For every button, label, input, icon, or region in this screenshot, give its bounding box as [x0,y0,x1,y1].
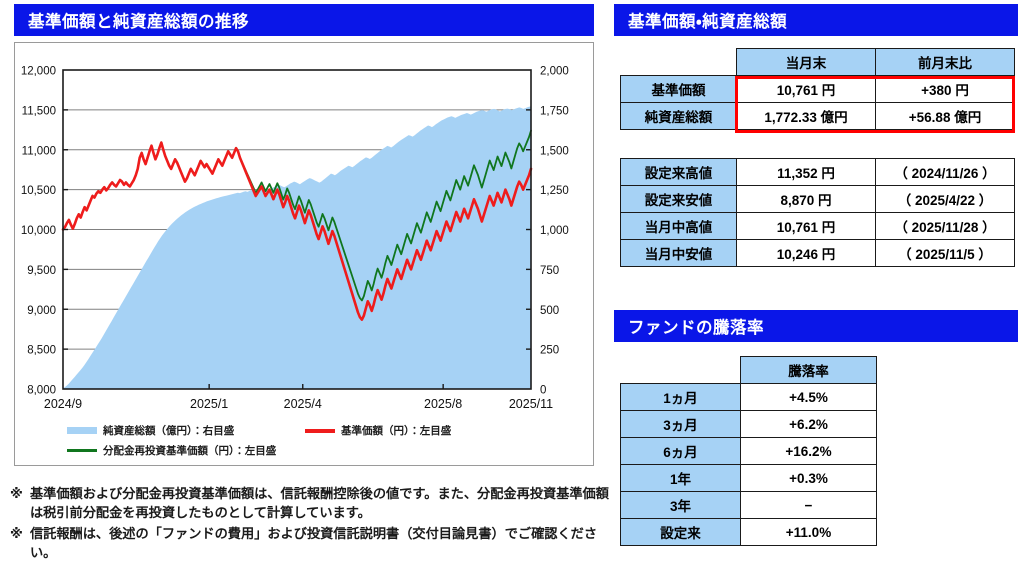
svg-text:12,000: 12,000 [21,66,56,78]
summary-col-change: 前月末比 [876,49,1015,76]
table-row: 当月中安値 10,246 円 （ 2025/11/5 ） [621,240,1015,267]
performance-col-rate: 騰落率 [741,357,877,384]
table-row: 3ヵ月 +6.2% [621,411,877,438]
table-row: 基準価額 10,761 円 +380 円 [621,76,1015,103]
svg-text:8,000: 8,000 [27,385,56,397]
legend-label-net-assets: 純資産総額（億円）：右目盛 [103,423,234,438]
nav-chart-panel: 8,0008,5009,0009,50010,00010,50011,00011… [14,42,594,466]
svg-text:10,500: 10,500 [21,185,56,197]
table-row: 当月中高値 10,761 円 （ 2025/11/28 ） [621,213,1015,240]
footnote-item: ※ 基準価額および分配金再投資基準価額は、信託報酬控除後の値です。また、分配金再… [10,484,610,523]
hilo-date-since-inception-low: （ 2025/4/22 ） [876,186,1015,213]
legend-item-nav: 基準価額（円）：左目盛 [305,423,451,438]
performance-section-title: ファンドの騰落率 [628,314,764,338]
footnote-mark: ※ [10,524,30,563]
legend-label-reinvested-nav: 分配金再投資基準価額（円）：左目盛 [103,443,276,458]
performance-value-1y: +0.3% [741,465,877,492]
chart-section-title: 基準価額と純資産総額の推移 [28,8,249,32]
hilo-value-month-low: 10,246 円 [737,240,876,267]
table-row: 1ヵ月 +4.5% [621,384,877,411]
table-row-header: 当月末 前月末比 [621,49,1015,76]
footnote-mark: ※ [10,484,30,523]
legend-item-reinvested-nav: 分配金再投資基準価額（円）：左目盛 [67,443,276,458]
summary-section-header: 基準価額・純資産総額 [614,4,1018,36]
performance-period-6m: 6ヵ月 [621,438,741,465]
legend-item-net-assets: 純資産総額（億円）：右目盛 [67,423,234,438]
hilo-date-since-inception-high: （ 2024/11/26 ） [876,159,1015,186]
svg-text:750: 750 [540,265,559,277]
table-row: 設定来安値 8,870 円 （ 2025/4/22 ） [621,186,1015,213]
summary-corner-cell [621,49,737,76]
svg-text:2025/8: 2025/8 [424,397,462,411]
hilo-table: 設定来高値 11,352 円 （ 2024/11/26 ） 設定来安値 8,87… [620,158,1015,267]
hilo-label-month-low: 当月中安値 [621,240,737,267]
table-row: 純資産総額 1,772.33 億円 +56.88 億円 [621,103,1015,130]
table-row: 1年 +0.3% [621,465,877,492]
performance-period-1m: 1ヵ月 [621,384,741,411]
summary-table: 当月末 前月末比 基準価額 10,761 円 +380 円 純資産総額 1,77… [620,48,1015,130]
hilo-value-month-high: 10,761 円 [737,213,876,240]
footnote-text: 信託報酬は、後述の「ファンドの費用」および投資信託説明書（交付目論見書）でご確認… [30,524,610,563]
performance-value-6m: +16.2% [741,438,877,465]
svg-text:1,250: 1,250 [540,185,569,197]
hilo-label-month-high: 当月中高値 [621,213,737,240]
svg-text:11,000: 11,000 [22,145,56,157]
table-row: 設定来高値 11,352 円 （ 2024/11/26 ） [621,159,1015,186]
hilo-date-month-high: （ 2025/11/28 ） [876,213,1015,240]
footnote-text: 基準価額および分配金再投資基準価額は、信託報酬控除後の値です。また、分配金再投資… [30,484,610,523]
svg-text:9,500: 9,500 [27,265,56,277]
footnote-item: ※ 信託報酬は、後述の「ファンドの費用」および投資信託説明書（交付目論見書）でご… [10,524,610,563]
hilo-label-since-inception-high: 設定来高値 [621,159,737,186]
hilo-value-since-inception-high: 11,352 円 [737,159,876,186]
legend-swatch-nav-icon [305,429,335,433]
performance-period-since-inception: 設定来 [621,519,741,546]
performance-section-header: ファンドの騰落率 [614,310,1018,342]
performance-value-3m: +6.2% [741,411,877,438]
summary-section-title: 基準価額・純資産総額 [628,8,787,32]
legend-swatch-reinvested-icon [67,449,97,452]
svg-text:250: 250 [540,345,559,357]
table-row: 3年 − [621,492,877,519]
svg-text:1,000: 1,000 [540,225,569,237]
svg-text:1,750: 1,750 [540,105,569,117]
svg-text:500: 500 [540,305,559,317]
chart-section-header: 基準価額と純資産総額の推移 [14,4,594,36]
summary-row-label-nav: 基準価額 [621,76,737,103]
performance-corner-cell [621,357,741,384]
performance-period-3y: 3年 [621,492,741,519]
table-row-header: 騰落率 [621,357,877,384]
summary-row-label-net-assets: 純資産総額 [621,103,737,130]
svg-text:2025/4: 2025/4 [284,397,322,411]
svg-text:11,500: 11,500 [22,105,56,117]
svg-text:9,000: 9,000 [27,305,56,317]
footnotes: ※ 基準価額および分配金再投資基準価額は、信託報酬控除後の値です。また、分配金再… [10,484,610,563]
svg-text:2,000: 2,000 [540,66,569,78]
svg-text:0: 0 [540,385,546,397]
performance-period-1y: 1年 [621,465,741,492]
performance-table: 騰落率 1ヵ月 +4.5% 3ヵ月 +6.2% 6ヵ月 +16.2% 1年 +0… [620,356,877,546]
svg-text:8,500: 8,500 [27,345,56,357]
summary-nav-change: +380 円 [876,76,1015,103]
table-row: 設定来 +11.0% [621,519,877,546]
svg-text:2025/1: 2025/1 [190,397,228,411]
hilo-date-month-low: （ 2025/11/5 ） [876,240,1015,267]
performance-value-since-inception: +11.0% [741,519,877,546]
legend-swatch-area-icon [67,427,97,434]
hilo-value-since-inception-low: 8,870 円 [737,186,876,213]
summary-nav-current: 10,761 円 [737,76,876,103]
svg-text:2024/9: 2024/9 [44,397,82,411]
summary-col-current: 当月末 [737,49,876,76]
hilo-label-since-inception-low: 設定来安値 [621,186,737,213]
table-row: 6ヵ月 +16.2% [621,438,877,465]
svg-text:2025/11: 2025/11 [509,397,553,411]
performance-period-3m: 3ヵ月 [621,411,741,438]
performance-value-1m: +4.5% [741,384,877,411]
summary-net-assets-change: +56.88 億円 [876,103,1015,130]
svg-text:1,500: 1,500 [540,145,569,157]
legend-label-nav: 基準価額（円）：左目盛 [341,423,451,438]
svg-text:10,000: 10,000 [21,225,56,237]
summary-net-assets-current: 1,772.33 億円 [737,103,876,130]
nav-chart-svg: 8,0008,5009,0009,50010,00010,50011,00011… [15,43,593,465]
performance-value-3y: − [741,492,877,519]
